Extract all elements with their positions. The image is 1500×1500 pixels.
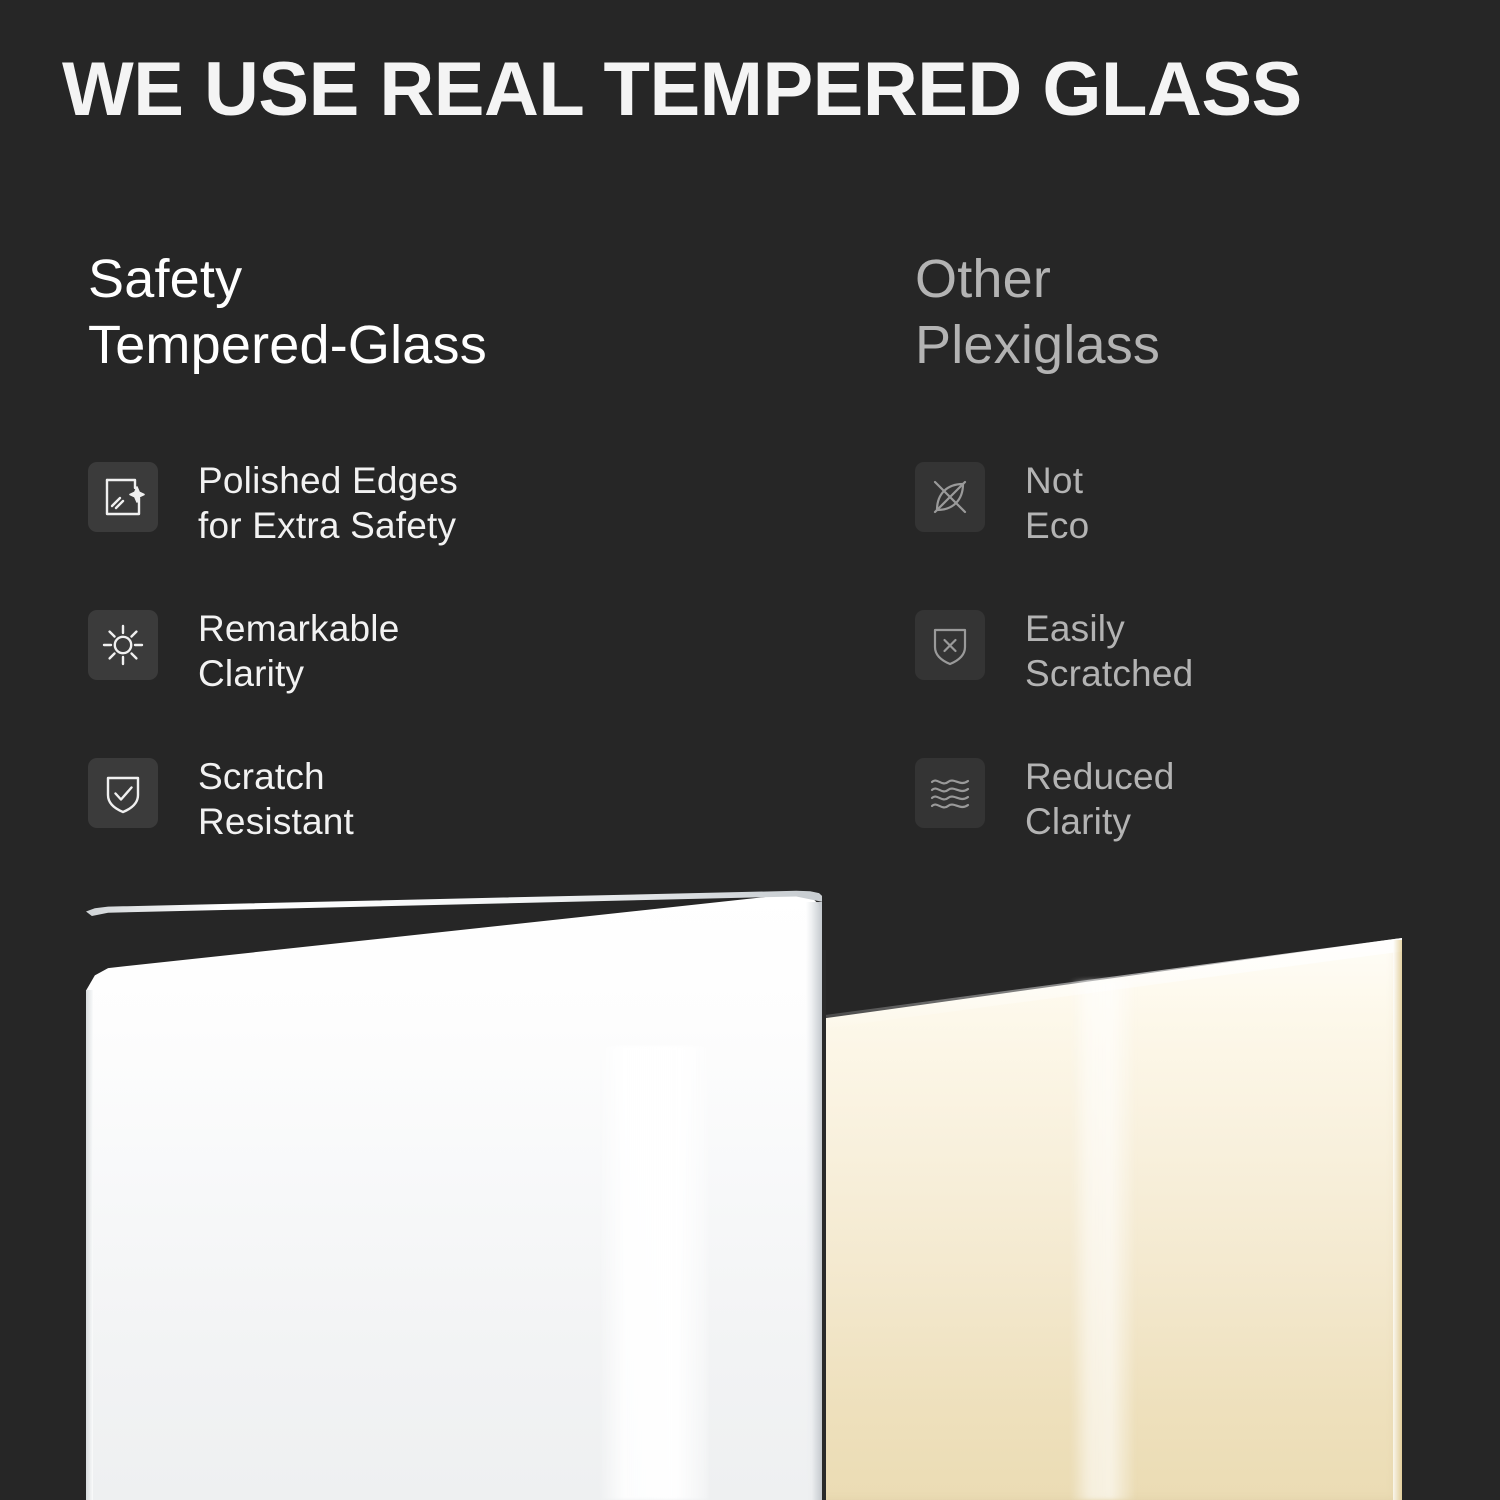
feature-list-good: Polished Edges for Extra Safety Remarkab… [88,458,808,902]
shield-check-icon [88,758,158,828]
feature-label-scratch-resistant: Scratch Resistant [198,754,354,844]
tempered-glass-panel-left-edge [86,990,93,1500]
tempered-glass-panel-sheen [598,1046,708,1500]
feature-label-reduced-clarity: Reduced Clarity [1025,754,1175,844]
feature-label-not-eco: Not Eco [1025,458,1089,548]
comparison-infographic: WE USE REAL TEMPERED GLASS Safety Temper… [0,0,1500,1500]
tempered-glass-panel-right-edge [806,902,822,1500]
column-title-bad: Other Plexiglass [915,246,1475,378]
feature-label-remarkable-clarity: Remarkable Clarity [198,606,399,696]
feature-label-polished-edges: Polished Edges for Extra Safety [198,458,458,548]
feature-list-bad: Not Eco Easily Scratched [915,458,1475,902]
product-photo [0,860,1500,1500]
wavy-lines-blur-icon [915,758,985,828]
feature-remarkable-clarity: Remarkable Clarity [88,606,808,754]
shield-x-icon [915,610,985,680]
leaf-crossed-out-icon [915,462,985,532]
column-title-good: Safety Tempered-Glass [88,246,808,378]
feature-polished-edges: Polished Edges for Extra Safety [88,458,808,606]
polished-glass-pane-sparkle-icon [88,462,158,532]
plexiglass-panel-right-edge [1393,940,1402,1500]
column-other-plexiglass: Other Plexiglass Not Eco [915,246,1475,378]
page-title: WE USE REAL TEMPERED GLASS [62,42,1462,138]
tempered-glass-panel [86,890,822,1500]
feature-easily-scratched: Easily Scratched [915,606,1475,754]
feature-not-eco: Not Eco [915,458,1475,606]
plexiglass-panel-sheen [1070,980,1136,1500]
column-safety-tempered-glass: Safety Tempered-Glass Polished Edges for… [88,246,808,378]
sun-brightness-icon [88,610,158,680]
feature-label-easily-scratched: Easily Scratched [1025,606,1193,696]
